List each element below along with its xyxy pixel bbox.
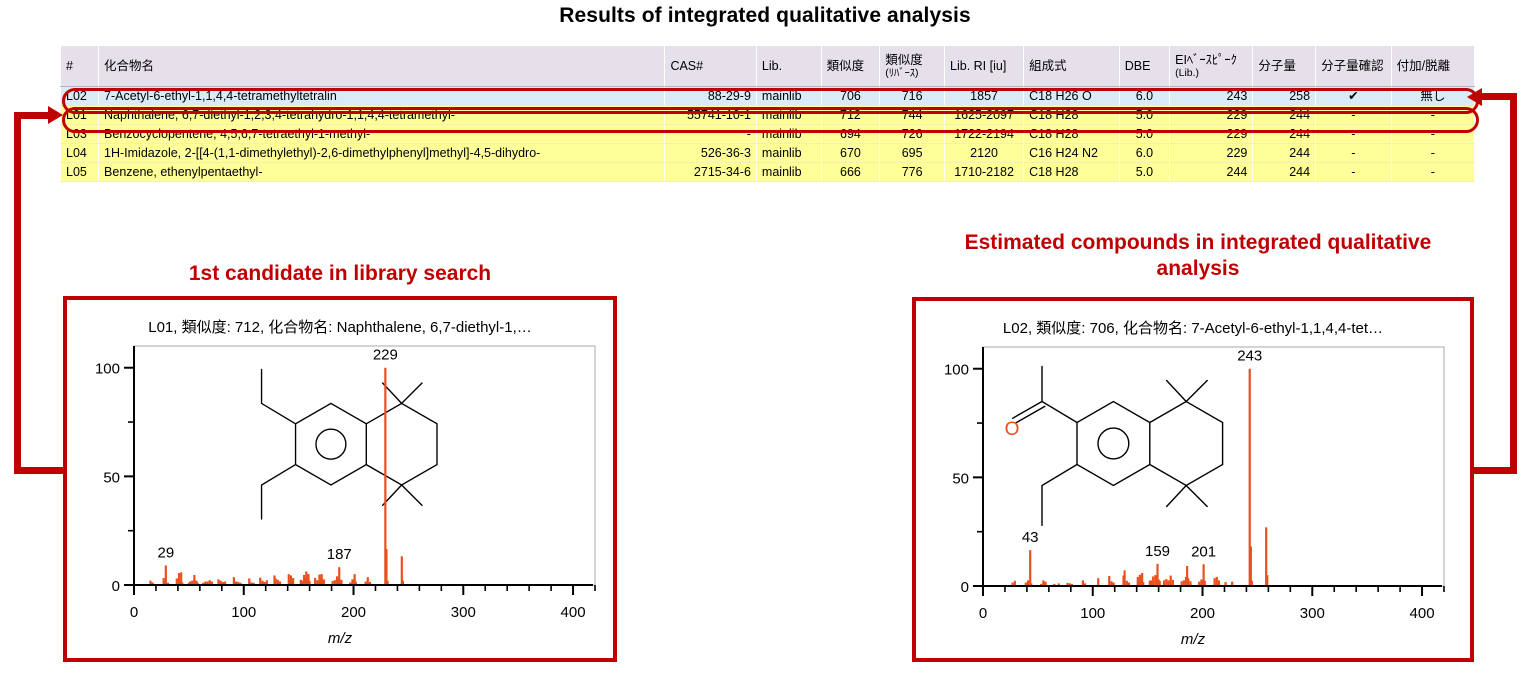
column-header-index[interactable]: # xyxy=(61,46,99,87)
cell-cas: 55741-10-1 xyxy=(665,106,756,125)
cell-dbe: 6.0 xyxy=(1119,87,1169,106)
peak-annotation: 243 xyxy=(1237,348,1262,365)
cell-mw: 244 xyxy=(1253,144,1316,163)
peak-annotation: 159 xyxy=(1145,543,1170,560)
column-header-base-peak-label: EIﾍﾞｰｽﾋﾟｰｸ xyxy=(1175,53,1237,67)
right-callout-caption: Estimated compounds in integrated qualit… xyxy=(952,230,1444,282)
cell-sim: 706 xyxy=(821,87,880,106)
cell-lib: mainlib xyxy=(756,163,821,182)
cell-adduct: - xyxy=(1391,144,1474,163)
peak-annotation: 187 xyxy=(327,546,352,563)
cell-mw: 244 xyxy=(1253,125,1316,144)
cell-basepeak: 229 xyxy=(1170,144,1253,163)
column-header-ri-label: Lib. RI [iu] xyxy=(950,59,1006,73)
cell-simrev: 695 xyxy=(880,144,945,163)
column-header-formula[interactable]: 組成式 xyxy=(1024,46,1120,87)
column-header-index-label: # xyxy=(66,59,73,73)
right-connector-vertical xyxy=(1510,93,1517,474)
x-tick-label: 200 xyxy=(1190,605,1215,622)
cell-idx: L04 xyxy=(61,144,99,163)
column-header-dbe[interactable]: DBE xyxy=(1119,46,1169,87)
left-connector-vertical xyxy=(14,112,21,474)
cell-formula: C18 H28 xyxy=(1024,106,1120,125)
cell-ri: 1710-2182 xyxy=(945,163,1024,182)
cell-basepeak: 244 xyxy=(1170,163,1253,182)
table-row[interactable]: L01Naphthalene, 6,7-diethyl-1,2,3,4-tetr… xyxy=(61,106,1475,125)
cell-name: 1H-Imidazole, 2-[[4-(1,1-dimethylethyl)-… xyxy=(99,144,665,163)
peak-annotation: 43 xyxy=(1022,529,1039,546)
left-connector-top-horizontal xyxy=(14,112,52,119)
cell-cas: 526-36-3 xyxy=(665,144,756,163)
x-tick-label: 0 xyxy=(979,605,987,622)
x-tick-label: 0 xyxy=(130,604,138,621)
cell-name: Naphthalene, 6,7-diethyl-1,2,3,4-tetrahy… xyxy=(99,106,665,125)
peak-annotation: 201 xyxy=(1191,543,1216,560)
x-tick-label: 300 xyxy=(1300,605,1325,622)
cell-adduct: - xyxy=(1391,163,1474,182)
x-tick-label: 100 xyxy=(231,604,256,621)
cell-mw: 244 xyxy=(1253,163,1316,182)
cell-ri: 1625-2097 xyxy=(945,106,1024,125)
peak-annotation: 229 xyxy=(373,347,398,364)
right-connector-arrowhead-icon xyxy=(1467,88,1482,106)
cell-basepeak: 229 xyxy=(1170,106,1253,125)
y-tick-label: 0 xyxy=(112,578,120,595)
cell-cas: 88-29-9 xyxy=(665,87,756,106)
cell-sim: 666 xyxy=(821,163,880,182)
column-header-dbe-label: DBE xyxy=(1125,59,1151,73)
right-spectrum-panel: L02, 類似度: 706, 化合物名: 7-Acetyl-6-ethyl-1,… xyxy=(912,297,1474,662)
cell-lib: mainlib xyxy=(756,106,821,125)
cell-mwconf: - xyxy=(1316,144,1392,163)
column-header-cas-label: CAS# xyxy=(670,59,703,73)
cell-adduct: - xyxy=(1391,125,1474,144)
cell-dbe: 5.0 xyxy=(1119,163,1169,182)
right-connector-top-horizontal xyxy=(1482,93,1517,100)
column-header-lib-label: Lib. xyxy=(762,59,782,73)
right-spectrum-plot: O010020030040005010043159201243 xyxy=(916,339,1470,669)
cell-idx: L03 xyxy=(61,125,99,144)
cell-basepeak: 229 xyxy=(1170,125,1253,144)
y-tick-label: 0 xyxy=(961,579,969,596)
cell-name: Benzene, ethenylpentaethyl- xyxy=(99,163,665,182)
table-row[interactable]: L03Benzocyclopentene, 4,5,6,7-tetraethyl… xyxy=(61,125,1475,144)
column-header-mw[interactable]: 分子量 xyxy=(1253,46,1316,87)
cell-cas: - xyxy=(665,125,756,144)
column-header-base-peak-sub: (Lib.) xyxy=(1175,67,1247,79)
right-spectrum-title: L02, 類似度: 706, 化合物名: 7-Acetyl-6-ethyl-1,… xyxy=(916,317,1470,338)
column-header-adduct-label: 付加/脱離 xyxy=(1397,59,1450,73)
x-tick-label: 400 xyxy=(561,604,586,621)
cell-name: 7-Acetyl-6-ethyl-1,1,4,4-tetramethyltetr… xyxy=(99,87,665,106)
y-tick-label: 50 xyxy=(103,469,120,486)
cell-cas: 2715-34-6 xyxy=(665,163,756,182)
cell-mw: 244 xyxy=(1253,106,1316,125)
cell-ri: 2120 xyxy=(945,144,1024,163)
cell-simrev: 726 xyxy=(880,125,945,144)
column-header-mw-label: 分子量 xyxy=(1258,59,1296,73)
left-connector-arrowhead-icon xyxy=(48,106,63,124)
column-header-similarity-reverse-sub: (ﾘﾊﾞｰｽ) xyxy=(885,67,939,79)
column-header-lib[interactable]: Lib. xyxy=(756,46,821,87)
cell-dbe: 5.0 xyxy=(1119,106,1169,125)
cell-lib: mainlib xyxy=(756,125,821,144)
table-header-row: # 化合物名 CAS# Lib. 類似度 類似度 (ﾘﾊﾞｰｽ) Lib. RI… xyxy=(61,46,1475,87)
left-spectrum-title: L01, 類似度: 712, 化合物名: Naphthalene, 6,7-di… xyxy=(67,316,613,337)
cell-adduct: - xyxy=(1391,106,1474,125)
cell-formula: C18 H28 xyxy=(1024,163,1120,182)
column-header-adduct[interactable]: 付加/脱離 xyxy=(1391,46,1474,87)
cell-ri: 1722-2194 xyxy=(945,125,1024,144)
peak-annotation: 29 xyxy=(157,544,174,561)
cell-lib: mainlib xyxy=(756,87,821,106)
column-header-similarity-reverse-label: 類似度 xyxy=(885,53,923,67)
column-header-similarity-reverse[interactable]: 類似度 (ﾘﾊﾞｰｽ) xyxy=(880,46,945,87)
table-row[interactable]: L041H-Imidazole, 2-[[4-(1,1-dimethylethy… xyxy=(61,144,1475,163)
column-header-mw-confirm-label: 分子量確認 xyxy=(1321,59,1384,73)
cell-sim: 712 xyxy=(821,106,880,125)
x-tick-label: 300 xyxy=(451,604,476,621)
cell-idx: L05 xyxy=(61,163,99,182)
cell-adduct: 無し xyxy=(1391,87,1474,106)
cell-formula: C18 H26 O xyxy=(1024,87,1120,106)
cell-dbe: 5.0 xyxy=(1119,125,1169,144)
oxygen-atom-label: O xyxy=(1005,419,1020,440)
cell-dbe: 6.0 xyxy=(1119,144,1169,163)
column-header-similarity[interactable]: 類似度 xyxy=(821,46,880,87)
cell-formula: C18 H28 xyxy=(1024,125,1120,144)
cell-mwconf: - xyxy=(1316,125,1392,144)
table-row[interactable]: L027-Acetyl-6-ethyl-1,1,4,4-tetramethylt… xyxy=(61,87,1475,106)
cell-mw: 258 xyxy=(1253,87,1316,106)
cell-mwconf: - xyxy=(1316,106,1392,125)
cell-name: Benzocyclopentene, 4,5,6,7-tetraethyl-1-… xyxy=(99,125,665,144)
x-tick-label: 200 xyxy=(341,604,366,621)
column-header-cas[interactable]: CAS# xyxy=(665,46,756,87)
page-title: Results of integrated qualitative analys… xyxy=(0,4,1530,28)
left-callout-caption: 1st candidate in library search xyxy=(63,261,617,287)
column-header-similarity-label: 類似度 xyxy=(827,59,865,73)
left-connector-bottom-horizontal xyxy=(14,467,69,474)
cell-sim: 670 xyxy=(821,144,880,163)
left-spectrum-xaxis-label: m/z xyxy=(67,630,613,647)
cell-sim: 694 xyxy=(821,125,880,144)
cell-mwconf: ✔ xyxy=(1316,87,1392,106)
table-row[interactable]: L05Benzene, ethenylpentaethyl-2715-34-6m… xyxy=(61,163,1475,182)
cell-mwconf: - xyxy=(1316,163,1392,182)
cell-simrev: 776 xyxy=(880,163,945,182)
cell-lib: mainlib xyxy=(756,144,821,163)
cell-simrev: 716 xyxy=(880,87,945,106)
column-header-name-label: 化合物名 xyxy=(104,59,154,73)
column-header-ri[interactable]: Lib. RI [iu] xyxy=(945,46,1024,87)
column-header-base-peak[interactable]: EIﾍﾞｰｽﾋﾟｰｸ (Lib.) xyxy=(1170,46,1253,87)
y-tick-label: 100 xyxy=(944,362,969,379)
left-spectrum-panel: L01, 類似度: 712, 化合物名: Naphthalene, 6,7-di… xyxy=(63,296,617,662)
column-header-name[interactable]: 化合物名 xyxy=(99,46,665,87)
cell-simrev: 744 xyxy=(880,106,945,125)
column-header-formula-label: 組成式 xyxy=(1029,59,1067,73)
cell-idx: L02 xyxy=(61,87,99,106)
cell-ri: 1857 xyxy=(945,87,1024,106)
column-header-mw-confirm[interactable]: 分子量確認 xyxy=(1316,46,1392,87)
x-tick-label: 100 xyxy=(1080,605,1105,622)
cell-formula: C16 H24 N2 xyxy=(1024,144,1120,163)
cell-basepeak: 243 xyxy=(1170,87,1253,106)
results-table: # 化合物名 CAS# Lib. 類似度 類似度 (ﾘﾊﾞｰｽ) Lib. RI… xyxy=(60,46,1475,182)
y-tick-label: 50 xyxy=(952,470,969,487)
cell-idx: L01 xyxy=(61,106,99,125)
left-spectrum-plot: 010020030040005010029187229 xyxy=(67,338,613,668)
right-spectrum-xaxis-label: m/z xyxy=(916,631,1470,648)
y-tick-label: 100 xyxy=(95,361,120,378)
x-tick-label: 400 xyxy=(1410,605,1435,622)
table-body: L027-Acetyl-6-ethyl-1,1,4,4-tetramethylt… xyxy=(61,87,1475,182)
